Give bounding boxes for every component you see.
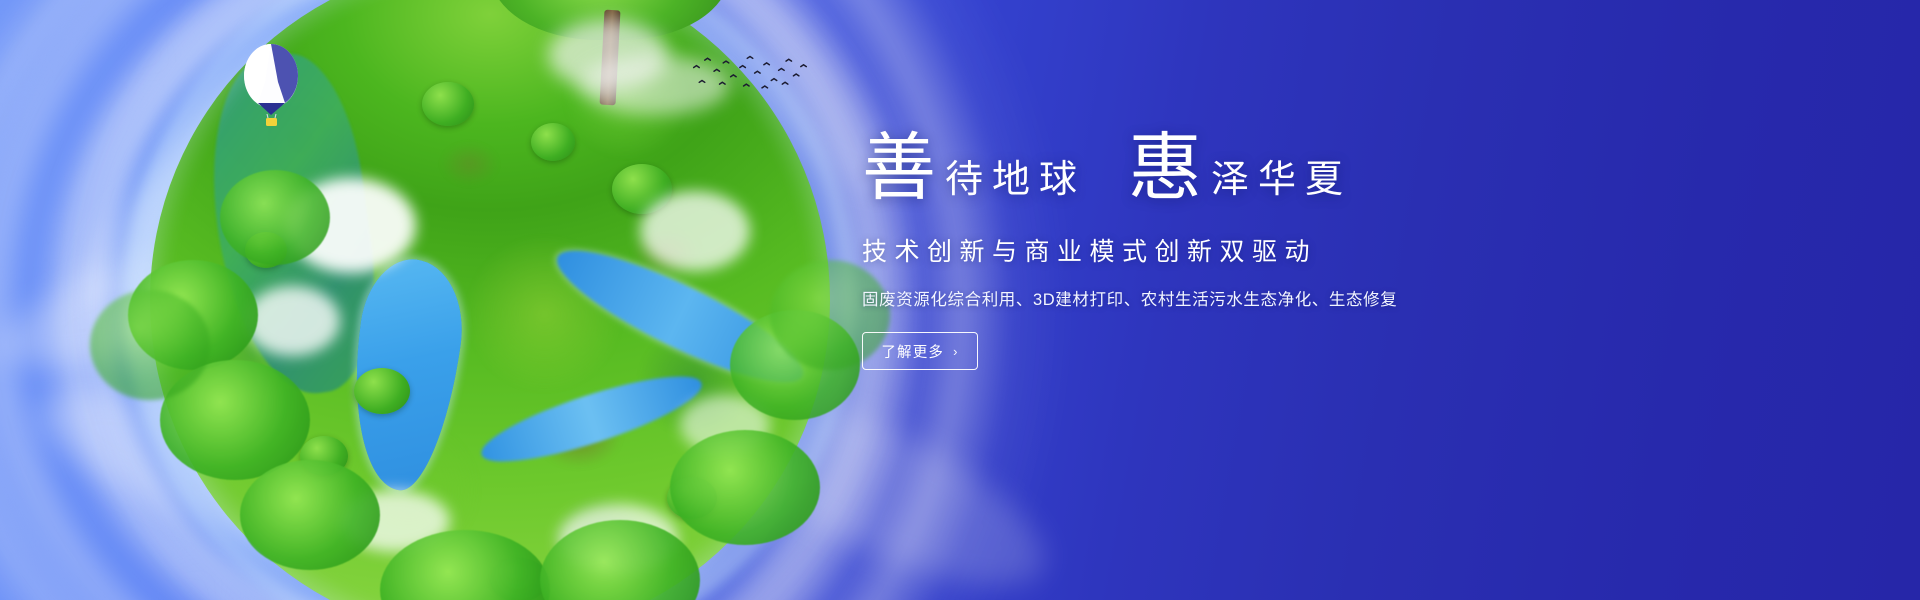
headline-text-1: 待地球 xyxy=(945,161,1086,206)
hero-description: 固废资源化综合利用、3D建材打印、农村生活污水生态净化、生态修复 xyxy=(862,286,1682,310)
bird-flock-icon xyxy=(690,52,810,96)
rim-tree-canopy xyxy=(240,460,380,570)
hero-banner: 善 待地球 惠 泽华夏 技术创新与商业模式创新双驱动 固废资源化综合利用、3D建… xyxy=(0,0,1920,600)
rim-tree-silhouette xyxy=(90,290,210,400)
headline-text-2: 泽华夏 xyxy=(1211,161,1352,206)
tree-canopy xyxy=(531,123,575,161)
headline-char-primary-1: 善 xyxy=(862,132,937,206)
chevron-right-icon: › xyxy=(953,344,959,359)
hero-subtitle: 技术创新与商业模式创新双驱动 xyxy=(862,232,1682,268)
cloud-patch xyxy=(640,191,750,271)
page-title: 善 待地球 惠 泽华夏 xyxy=(862,132,1682,206)
learn-more-button[interactable]: 了解更多 › xyxy=(862,332,978,370)
headline-char-primary-2: 惠 xyxy=(1128,132,1203,206)
hero-copy: 善 待地球 惠 泽华夏 技术创新与商业模式创新双驱动 固废资源化综合利用、3D建… xyxy=(862,132,1682,370)
rim-tree-canopy xyxy=(670,430,820,545)
tree-canopy xyxy=(354,368,410,414)
hot-air-balloon-icon xyxy=(238,42,308,137)
rim-tree-canopy xyxy=(220,170,330,265)
learn-more-label: 了解更多 xyxy=(881,341,944,362)
